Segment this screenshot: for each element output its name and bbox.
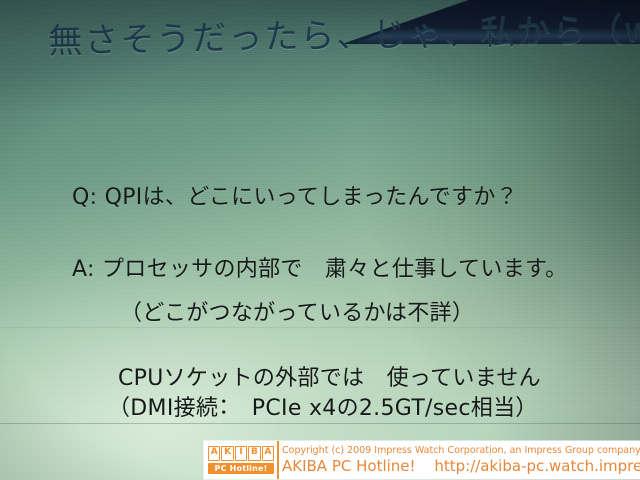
logo-subtitle: PC Hotline! [208, 463, 274, 474]
site-url[interactable]: http://akiba-pc.watch.impress.co.jp/ [434, 457, 640, 475]
brand-line: AKIBA PC Hotline! http://akiba-pc.watch.… [282, 457, 640, 476]
copyright-notice: Copyright (c) 2009 Impress Watch Corpora… [282, 444, 640, 457]
slide-photo: 無さそうだったら、じゃ、私から（w） Q: QPIは、どこにいってしまったんです… [0, 0, 640, 480]
logo-letter-b: B [248, 446, 260, 461]
logo-letter-a2: A [262, 446, 274, 461]
brand-name: AKIBA PC Hotline! [282, 457, 416, 475]
watermark-bar: A K I B A PC Hotline! Copyright (c) 2009… [204, 441, 640, 479]
watermark-text: Copyright (c) 2009 Impress Watch Corpora… [277, 441, 640, 479]
akiba-logo-letters: A K I B A [208, 446, 274, 461]
logo-letter-k: K [221, 446, 233, 461]
photo-vignette [0, 0, 640, 480]
logo-letter-a1: A [208, 446, 220, 461]
logo-letter-i: I [235, 446, 247, 461]
akiba-logo: A K I B A PC Hotline! [204, 441, 277, 479]
